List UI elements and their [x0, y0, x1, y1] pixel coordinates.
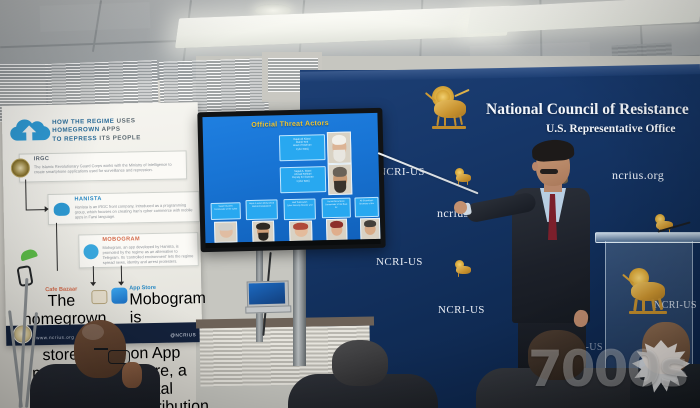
laptop-base [245, 305, 291, 313]
slide-node-bottom-2: Hojat ol-eslam Mohammad Mehdi Khodabakhs… [245, 199, 277, 220]
poster-heading-line-3-rest: ITS PEOPLE [99, 134, 141, 142]
connector-arrowhead [118, 282, 124, 286]
slide-portrait-bottom-5 [360, 218, 381, 240]
slide-node-line: Cyber Basij [281, 147, 323, 151]
tv-screen[interactable]: Official Threat Actors Rajab Ali Kilami … [202, 113, 380, 243]
poster-heading-line-1-rest: USES [117, 117, 136, 124]
poster-entry-title: MOBOGRAM [102, 235, 194, 243]
poster-entry-mobogram: MOBOGRAM Mobogram, an app developed by H… [78, 232, 199, 268]
slide-node-bottom-5: Ali Shamkhani Secretary of the [354, 197, 378, 218]
poster-heading-line-1-bold: HOW THE REGIME [52, 118, 114, 126]
audience-member-right [470, 330, 650, 408]
poster-entry-body: Hanista is an IRGC front company, introd… [75, 202, 196, 219]
slide-node-top-1: Rajab Ali Kilami Mahdi Tork Head of Sazm… [279, 134, 326, 161]
press-conference-photo: National Council of Resistance U.S. Repr… [0, 0, 700, 408]
app-store-icon [111, 288, 127, 304]
slide-node-line: Secretary of the [357, 203, 377, 206]
poster-heading-line-2-bold: HOMEGROWN [52, 126, 100, 134]
speaker-ear [532, 162, 538, 171]
presentation-tv[interactable]: Official Threat Actors Rajab Ali Kilami … [197, 108, 385, 252]
poster-heading-line-3-bold: TO REPRESS [52, 135, 97, 143]
lectern-top [595, 232, 700, 243]
audience-member-far-right [636, 322, 700, 408]
slide-portrait-top-2 [328, 164, 353, 196]
slide-portrait-bottom-1 [214, 221, 238, 243]
connector-line [25, 179, 27, 209]
cloud-upload-icon [10, 117, 50, 144]
audience-member-front-left [22, 318, 182, 408]
slide-portrait-bottom-3 [289, 221, 313, 243]
backdrop-lion-emblem-small [652, 214, 678, 234]
eyeglasses-temple [94, 348, 108, 350]
poster-entry-body: Mobogram, an app developed by Hanista, i… [102, 243, 194, 265]
speaker-hair [531, 139, 574, 163]
slide-node-top-2: Sajjad A. Islami Ahmad Rahbari Deputy fo… [280, 166, 327, 193]
audience-member-center [288, 340, 438, 408]
slide-node-line: Commander of the Cyber [213, 208, 239, 211]
slide-node-bottom-1: Saeid Ghasemi Commander of the Cyber [211, 202, 241, 220]
poster-heading: HOW THE REGIME USES HOMEGROWN APPS TO RE… [52, 116, 194, 144]
backdrop-org-subtitle: U.S. Representative Office [546, 123, 675, 135]
slide-node-line: Cyber Security Director and [286, 204, 314, 207]
backdrop-mark: NCRI-US [376, 256, 423, 268]
presentation-laptop[interactable] [245, 280, 290, 313]
connector-line [26, 209, 46, 211]
poster-entry-body: The Islamic Revolutionary Guard Corps wo… [34, 161, 183, 174]
slide-title: Official Threat Actors [203, 119, 378, 130]
poster-entry-irgc: IRGC The Islamic Revolutionary Guard Cor… [19, 150, 188, 182]
slide-portrait-bottom-4 [326, 219, 348, 242]
hanista-icon [54, 203, 70, 216]
poster-heading-line-2-rest: APPS [102, 126, 121, 133]
lion-and-sun-emblem [424, 88, 476, 134]
mobogram-icon [83, 244, 98, 259]
slide-node-bottom-3: Hadi Talebzadeh Cyber Security Director … [283, 198, 316, 220]
speaker-pointing-hand [454, 201, 467, 214]
irgc-seal-icon [11, 158, 30, 177]
connector-arrowhead [90, 282, 96, 286]
speaker-mustache [540, 169, 558, 174]
slide-portrait-bottom-2 [252, 220, 275, 243]
slide-portrait-top-1 [327, 132, 352, 165]
laptop-screen[interactable] [249, 283, 286, 305]
slide-node-bottom-4: Hamid Reza Moini Commander of the Basij … [321, 198, 350, 219]
connector-line [56, 223, 58, 271]
poster-entry-hanista: HANISTA Hanista is an IRGC front company… [47, 191, 200, 225]
lectern-lion-emblem [619, 268, 675, 320]
speaker-resting-hand [573, 309, 589, 328]
slide-node-line: Mehdi Khodabakhsh [248, 205, 276, 208]
slide-node-line: Commander of the Basij for [324, 203, 349, 209]
connector-arrowhead [45, 206, 49, 212]
cafe-bazaar-icon [91, 290, 107, 304]
backdrop-org-title: National Council of Resistance [486, 101, 689, 119]
tripod-green-grip [19, 248, 38, 262]
slide-node-line: Cyber Basij [282, 179, 324, 183]
